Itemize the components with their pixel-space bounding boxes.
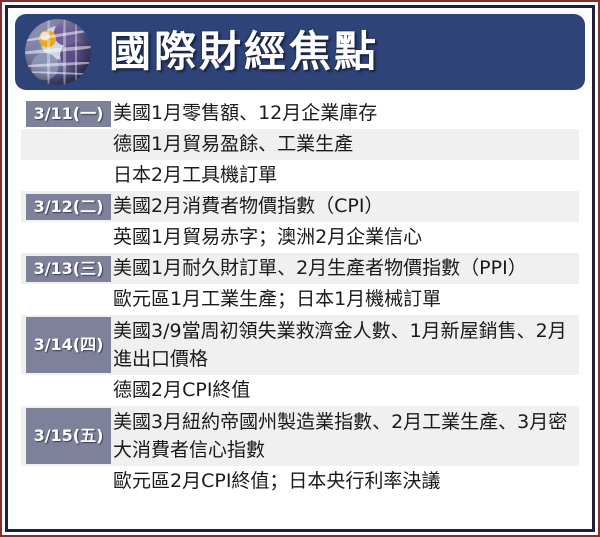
- event-text: 日本2月工具機訂單: [111, 160, 579, 191]
- event-text: 美國1月零售額、12月企業庫存: [111, 98, 579, 129]
- events-table: 3/11(一) 美國1月零售額、12月企業庫存 德國1月貿易盈餘、工業生產 日本…: [21, 98, 579, 497]
- table-row: 3/13(三) 美國1月耐久財訂單、2月生產者物價指數（PPI）: [21, 253, 579, 284]
- table-row: 德國1月貿易盈餘、工業生產: [21, 129, 579, 160]
- globe-band: [25, 70, 91, 75]
- globe-meridian: [47, 19, 50, 85]
- globe-band: [25, 27, 91, 42]
- date-cell: [21, 466, 111, 497]
- globe-band: [25, 60, 91, 67]
- event-text: 歐元區1月工業生產；日本1月機械訂單: [111, 284, 579, 315]
- date-badge-empty: [26, 287, 111, 313]
- date-cell: [21, 284, 111, 315]
- event-text: 英國1月貿易赤字；澳洲2月企業信心: [111, 222, 579, 253]
- page-title: 國際財經焦點: [109, 31, 379, 73]
- table-row: 3/15(五) 美國3月紐約帝國州製造業指數、2月工業生產、3月密大消費者信心指…: [21, 406, 579, 466]
- date-cell: [21, 160, 111, 191]
- event-text: 美國1月耐久財訂單、2月生產者物價指數（PPI）: [111, 253, 579, 284]
- date-cell: 3/15(五): [21, 406, 111, 466]
- date-badge: 3/15(五): [26, 408, 111, 464]
- table-row: 歐元區1月工業生產；日本1月機械訂單: [21, 284, 579, 315]
- date-cell: 3/11(一): [21, 98, 111, 129]
- table-row: 3/12(二) 美國2月消費者物價指數（CPI）: [21, 191, 579, 222]
- event-text: 美國3月紐約帝國州製造業指數、2月工業生產、3月密大消費者信心指數: [111, 406, 579, 466]
- event-text: 歐元區2月CPI終值；日本央行利率決議: [111, 466, 579, 497]
- date-badge-empty: [26, 469, 111, 495]
- table-row: 德國2月CPI終值: [21, 375, 579, 406]
- event-text: 美國3/9當周初領失業救濟金人數、1月新屋銷售、2月進出口價格: [111, 315, 579, 375]
- date-badge-empty: [26, 132, 111, 158]
- date-cell: 3/13(三): [21, 253, 111, 284]
- date-badge: 3/13(三): [26, 256, 111, 282]
- document-content: 國際財經焦點 3/11(一) 美國1月零售額、12月企業庫存 德國1月貿易盈餘、…: [11, 11, 589, 526]
- header-banner: 國際財經焦點: [15, 14, 585, 90]
- globe-meridian: [63, 19, 66, 85]
- globe-icon-wrapper: [15, 14, 101, 90]
- globe-icon: [25, 19, 91, 85]
- date-cell: 3/12(二): [21, 191, 111, 222]
- date-badge: 3/14(四): [26, 317, 111, 373]
- event-text: 德國2月CPI終值: [111, 375, 579, 406]
- globe-meridian: [75, 19, 77, 85]
- date-badge-empty: [26, 163, 111, 189]
- date-cell: 3/14(四): [21, 315, 111, 375]
- date-cell: [21, 375, 111, 406]
- date-badge-empty: [26, 378, 111, 404]
- date-badge: 3/12(二): [26, 194, 111, 220]
- date-cell: [21, 222, 111, 253]
- table-row: 3/11(一) 美國1月零售額、12月企業庫存: [21, 98, 579, 129]
- event-text: 德國1月貿易盈餘、工業生產: [111, 129, 579, 160]
- table-row: 英國1月貿易赤字；澳洲2月企業信心: [21, 222, 579, 253]
- document-frame: 國際財經焦點 3/11(一) 美國1月零售額、12月企業庫存 德國1月貿易盈餘、…: [5, 5, 595, 532]
- page-root: 國際財經焦點 3/11(一) 美國1月零售額、12月企業庫存 德國1月貿易盈餘、…: [0, 0, 600, 537]
- date-badge-empty: [26, 225, 111, 251]
- event-text: 美國2月消費者物價指數（CPI）: [111, 191, 579, 222]
- date-badge: 3/11(一): [26, 101, 111, 127]
- table-row: 歐元區2月CPI終值；日本央行利率決議: [21, 466, 579, 497]
- date-cell: [21, 129, 111, 160]
- table-row: 3/14(四) 美國3/9當周初領失業救濟金人數、1月新屋銷售、2月進出口價格: [21, 315, 579, 375]
- globe-band: [25, 45, 91, 56]
- table-row: 日本2月工具機訂單: [21, 160, 579, 191]
